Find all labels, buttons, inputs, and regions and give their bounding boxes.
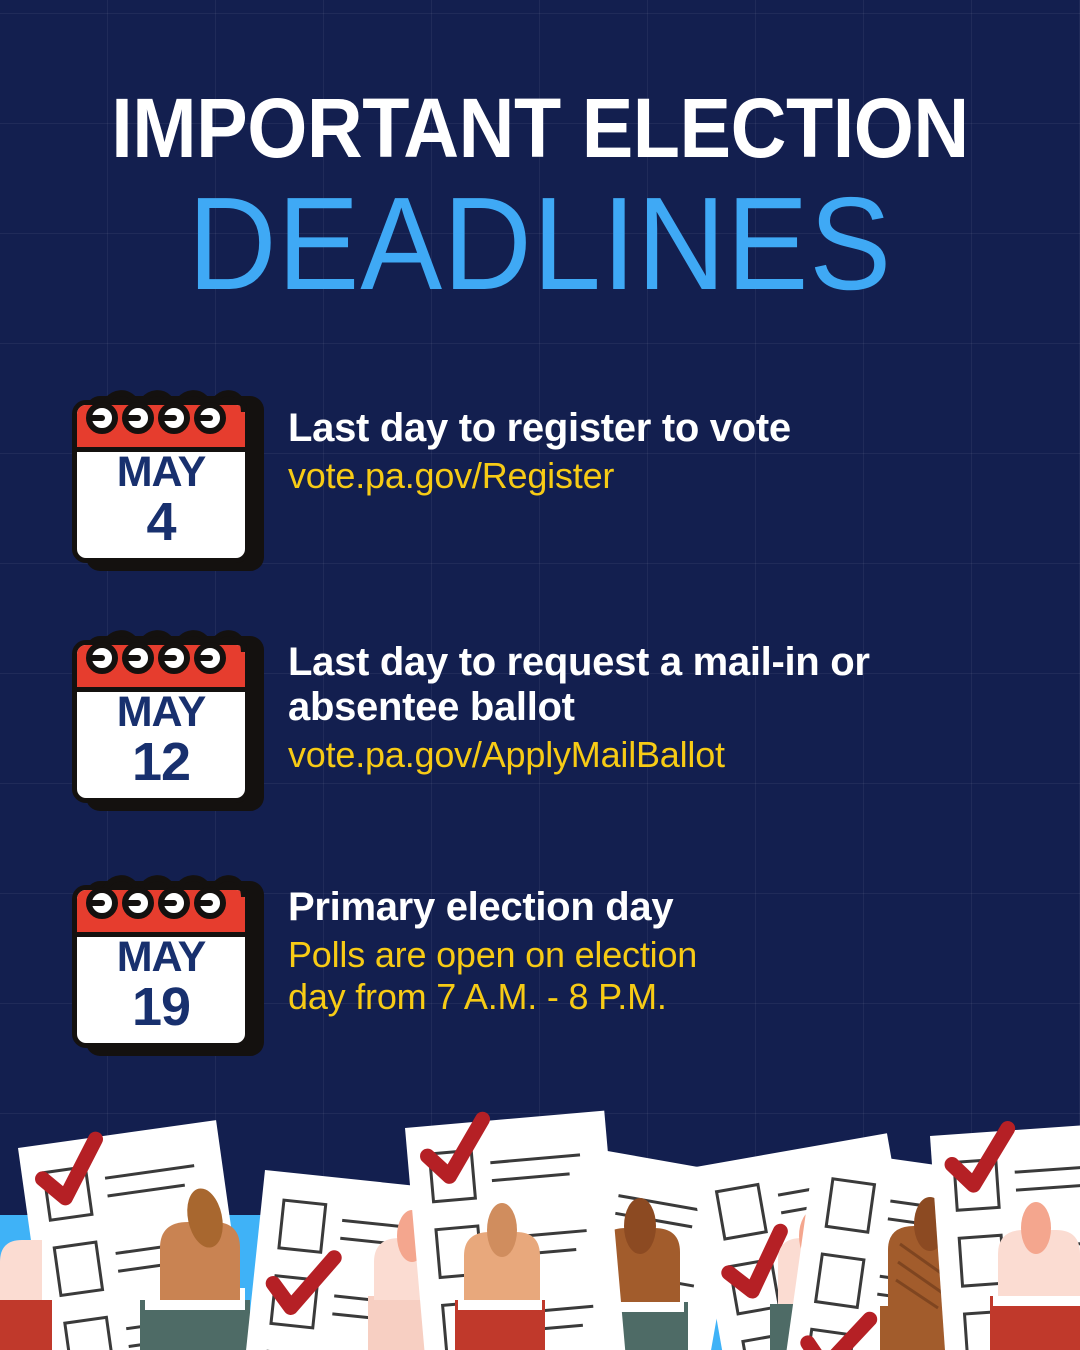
hands-holding-ballots-illustration (0, 0, 1080, 1350)
poster-canvas: IMPORTANT ELECTION DEADLINES MAY 4 (0, 0, 1080, 1350)
thumb (624, 1198, 656, 1254)
thumb (1021, 1202, 1051, 1254)
ballot-hand-4 (405, 1109, 626, 1350)
ballot-hand-7 (930, 1120, 1080, 1350)
sleeve (0, 1300, 52, 1350)
thumb (487, 1203, 517, 1257)
ballot-hand-1 (18, 1120, 251, 1350)
hand (0, 1240, 42, 1300)
